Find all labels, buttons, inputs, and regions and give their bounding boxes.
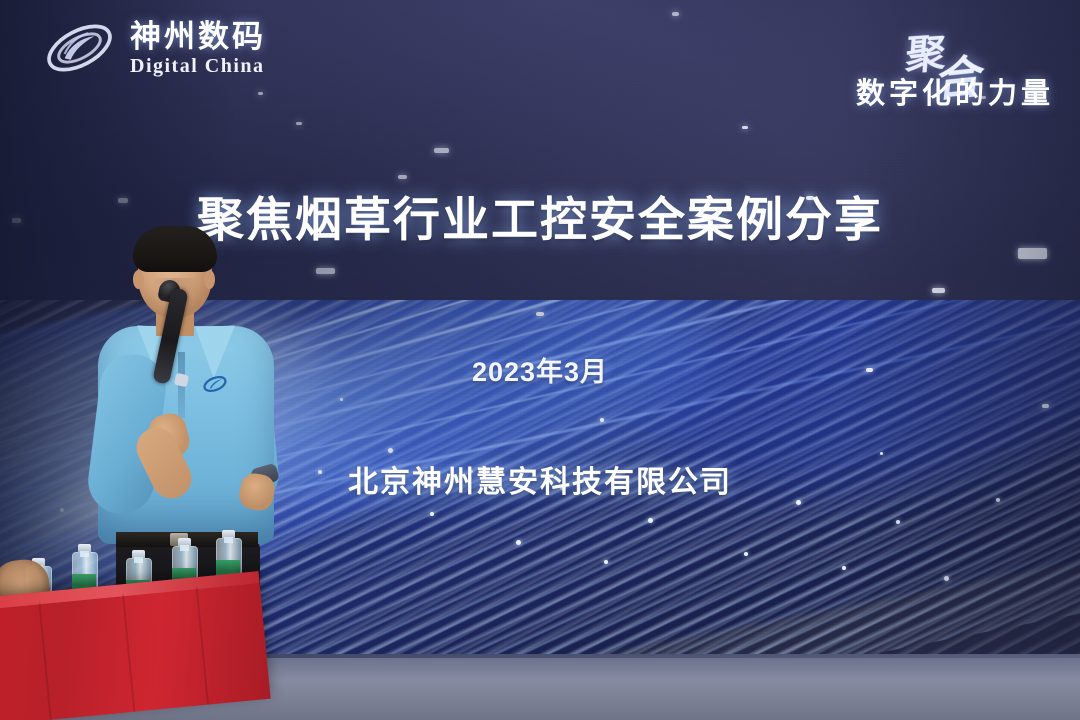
red-table-cloth [0,571,271,720]
conference-photo: 神州数码 Digital China 聚 合 数字化的力量 聚焦烟草行业工控安全… [0,0,1080,720]
brand-name-english: Digital China [130,56,266,76]
shirt-logo-icon [202,374,228,394]
digital-china-logo: 神州数码 Digital China [42,17,266,79]
digital-china-swirl-icon [42,17,117,79]
speaker-hair [133,226,217,272]
event-logo: 聚 合 数字化的力量 [808,16,1058,114]
brand-name-chinese: 神州数码 [130,21,266,52]
event-logo-tagline: 数字化的力量 [856,70,1054,112]
